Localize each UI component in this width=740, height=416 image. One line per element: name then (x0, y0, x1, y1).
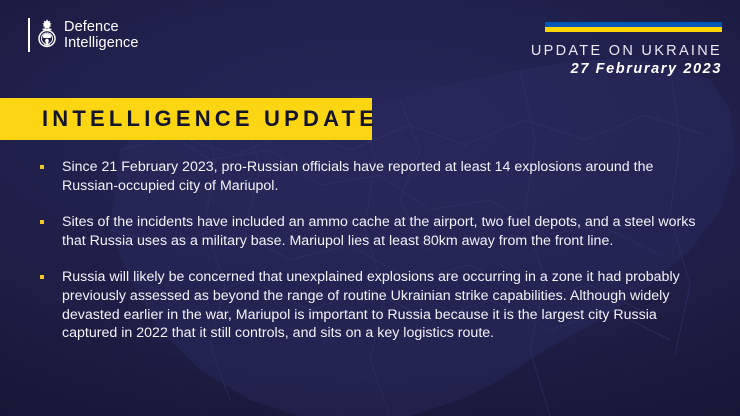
banner-label: INTELLIGENCE UPDATE (0, 106, 378, 132)
flag-stripe-yellow (545, 27, 722, 32)
square-bullet-icon (40, 165, 44, 169)
update-title: UPDATE ON UKRAINE (422, 43, 722, 60)
intelligence-update-banner: INTELLIGENCE UPDATE (0, 98, 372, 140)
ukraine-flag-bar-icon (545, 22, 722, 32)
vertical-rule-icon (28, 18, 30, 52)
square-bullet-icon (40, 220, 44, 224)
royal-crest-icon (37, 18, 57, 52)
square-bullet-icon (40, 275, 44, 279)
bullet-text: Since 21 February 2023, pro-Russian offi… (62, 158, 700, 195)
logo-wordmark: Defence Intelligence (64, 19, 139, 51)
logo-line-defence: Defence (64, 19, 139, 35)
intelligence-update-slide: Defence Intelligence UPDATE ON UKRAINE 2… (0, 0, 740, 416)
logo-line-intelligence: Intelligence (64, 35, 139, 51)
bullet-text: Russia will likely be concerned that une… (62, 268, 700, 342)
list-item: Sites of the incidents have included an … (40, 213, 700, 250)
update-date: 27 Februrary 2023 (422, 61, 722, 78)
defence-intelligence-logo: Defence Intelligence (28, 18, 139, 52)
bullet-list: Since 21 February 2023, pro-Russian offi… (40, 158, 700, 343)
list-item: Since 21 February 2023, pro-Russian offi… (40, 158, 700, 195)
update-header: UPDATE ON UKRAINE 27 Februrary 2023 (422, 22, 722, 78)
list-item: Russia will likely be concerned that une… (40, 268, 700, 342)
bullet-text: Sites of the incidents have included an … (62, 213, 700, 250)
